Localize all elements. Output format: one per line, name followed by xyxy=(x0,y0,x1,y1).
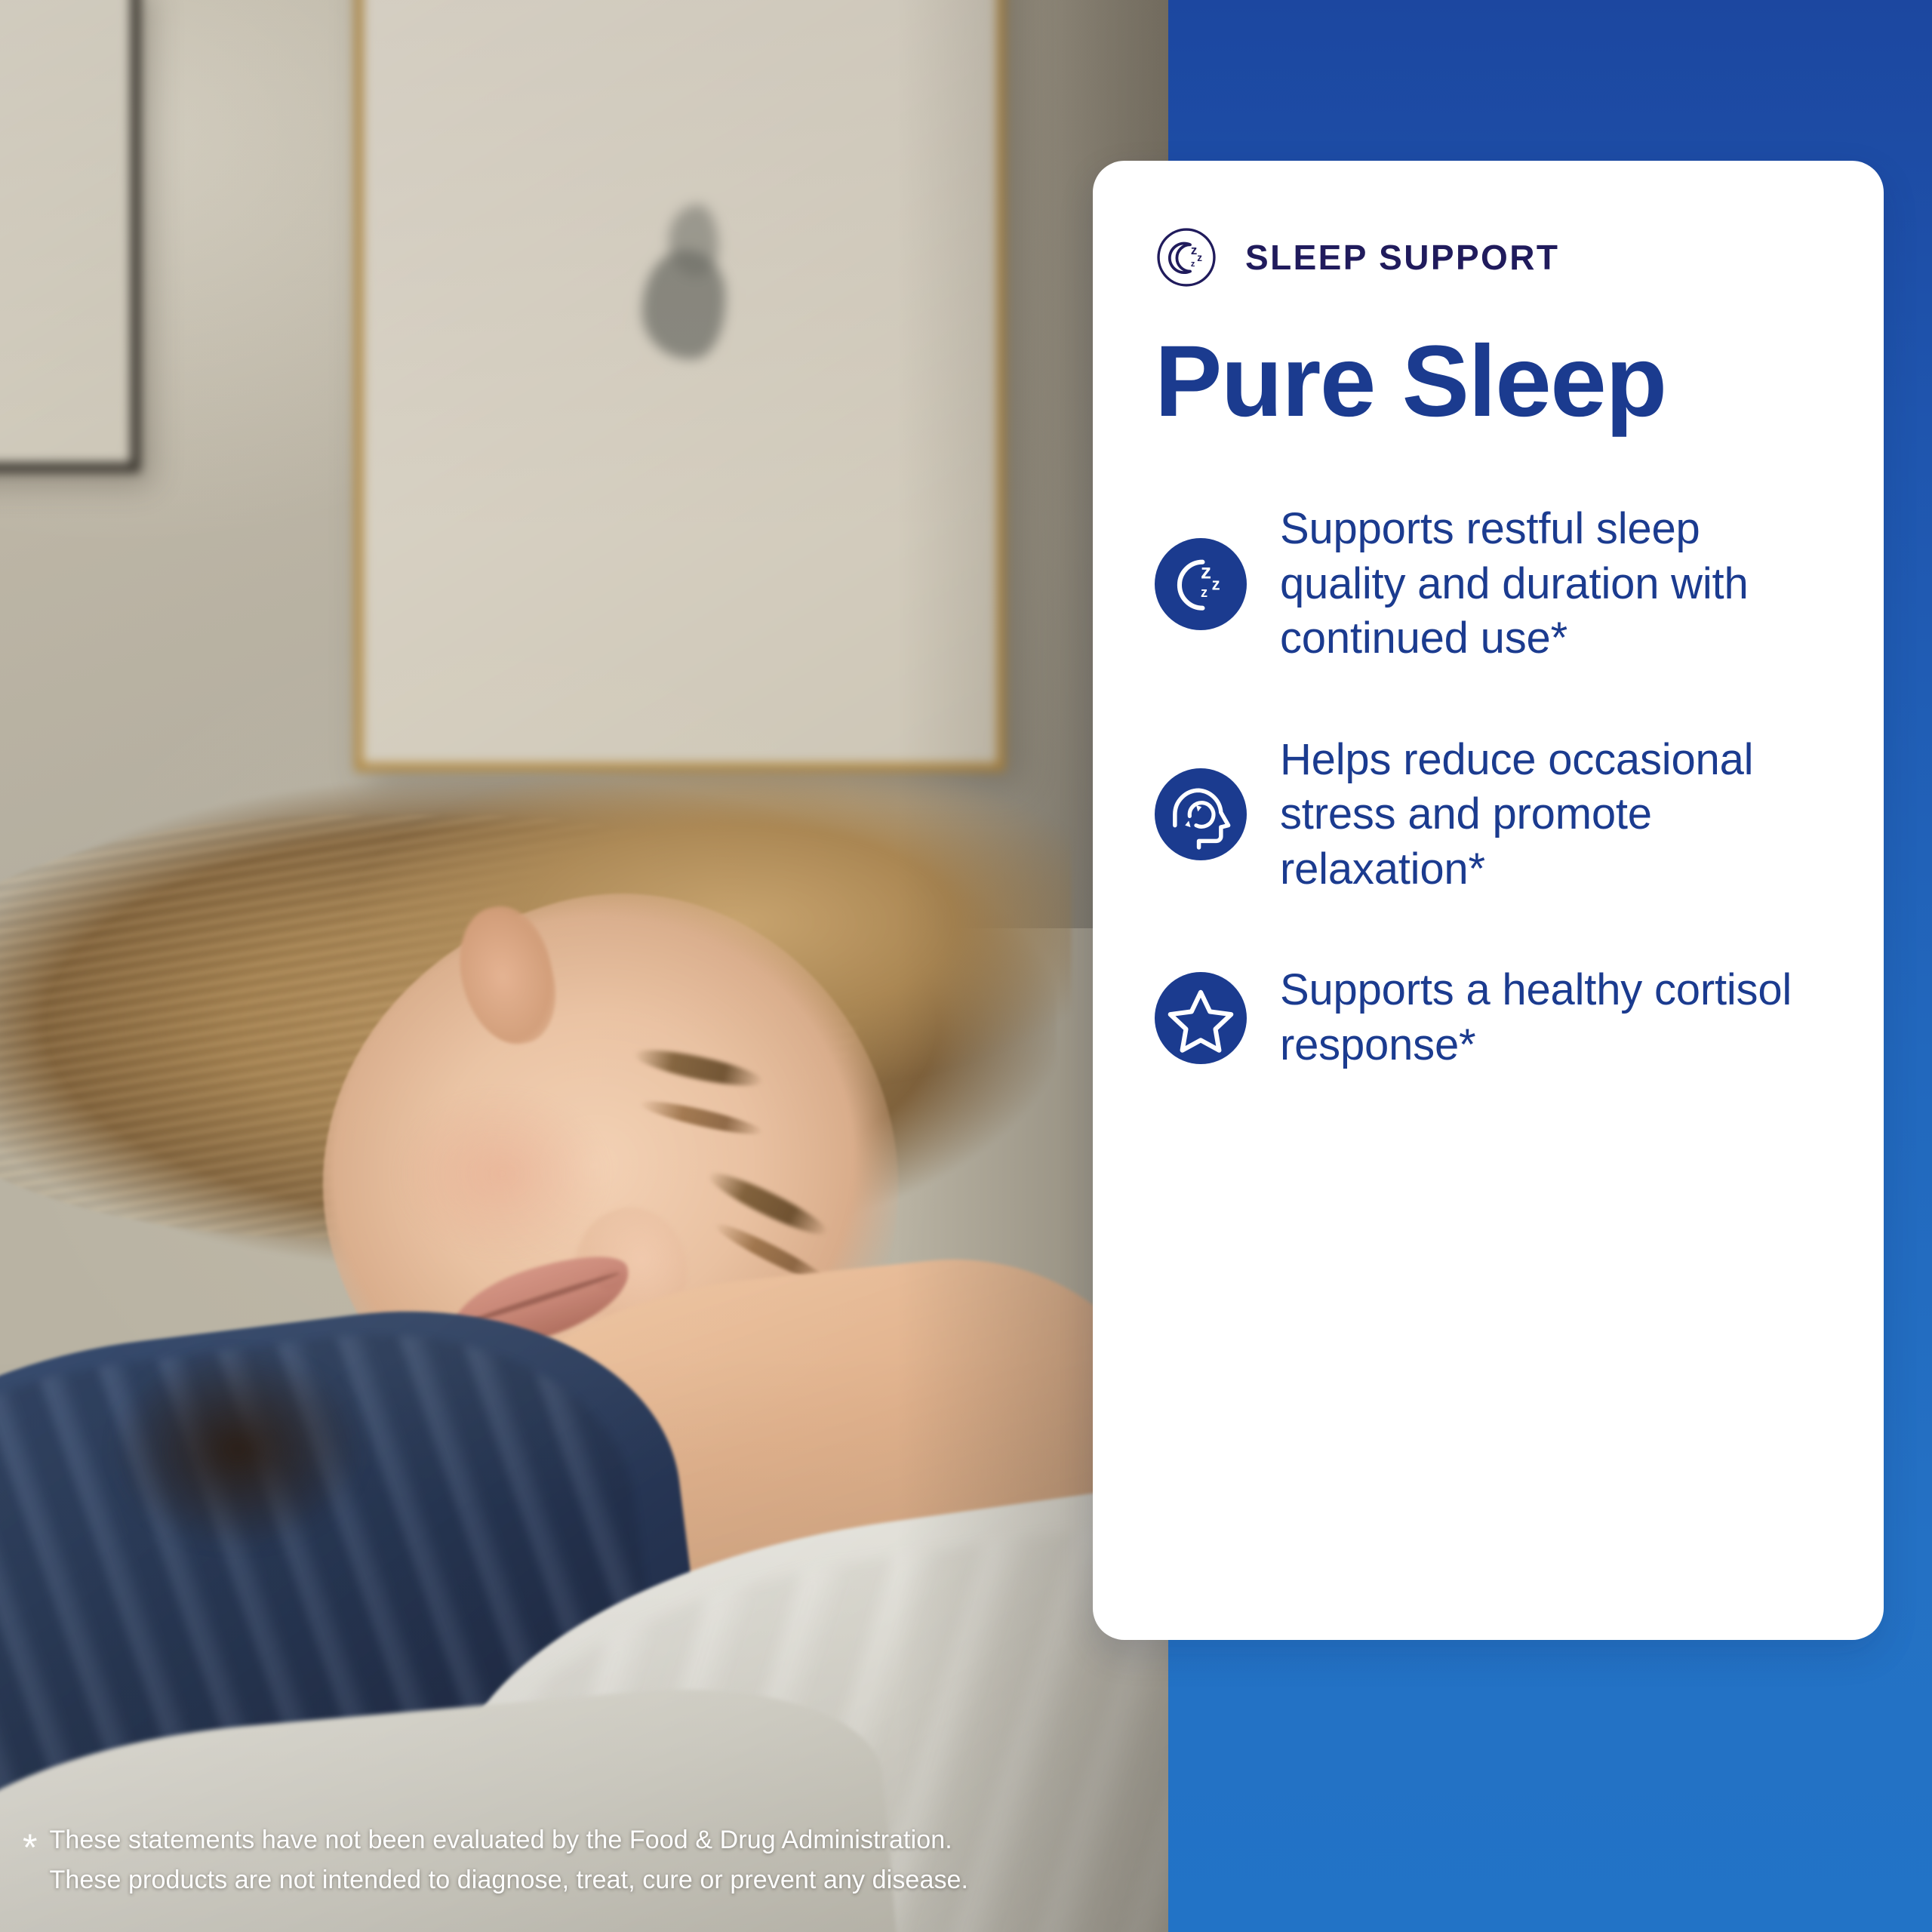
svg-text:z: z xyxy=(1201,559,1211,583)
frame-artwork-mark-secondary xyxy=(669,205,718,277)
product-card: z z z SLEEP SUPPORT Pure Sleep z z z Sup… xyxy=(1093,161,1884,1640)
svg-text:z: z xyxy=(1191,243,1197,257)
promo-graphic: * These statements have not been evaluat… xyxy=(0,0,1932,1932)
picture-frame-center xyxy=(355,0,1005,771)
category-badge: z z z SLEEP SUPPORT xyxy=(1155,226,1828,289)
picture-frame-left xyxy=(0,0,140,472)
star-icon xyxy=(1155,972,1247,1064)
benefit-list: z z z Supports restful sleep quality and… xyxy=(1155,502,1828,1072)
cheek-blush xyxy=(392,1087,611,1260)
benefit-item: z z z Supports restful sleep quality and… xyxy=(1155,502,1828,666)
sleepwear-shadow xyxy=(113,1351,362,1547)
moon-zzz-icon: z z z xyxy=(1155,538,1247,630)
benefit-item: Helps reduce occasional stress and promo… xyxy=(1155,733,1828,897)
benefit-text: Helps reduce occasional stress and promo… xyxy=(1280,733,1828,897)
category-badge-label: SLEEP SUPPORT xyxy=(1245,237,1559,278)
disclaimer-line-2: These products are not intended to diagn… xyxy=(49,1864,968,1897)
asterisk-marker: * xyxy=(23,1829,37,1866)
head-refresh-icon xyxy=(1155,768,1247,860)
page-title: Pure Sleep xyxy=(1155,331,1828,432)
benefit-text: Supports a healthy cortisol response* xyxy=(1280,963,1828,1072)
svg-text:z: z xyxy=(1191,260,1195,269)
svg-text:z: z xyxy=(1212,574,1220,593)
svg-text:z: z xyxy=(1197,252,1202,263)
moon-zzz-outline-icon: z z z xyxy=(1155,226,1218,289)
disclaimer-lines: These statements have not been evaluated… xyxy=(49,1824,968,1897)
benefit-item: Supports a healthy cortisol response* xyxy=(1155,963,1828,1072)
svg-text:z: z xyxy=(1201,584,1207,600)
disclaimer-line-1: These statements have not been evaluated… xyxy=(49,1824,968,1857)
disclaimer: * These statements have not been evaluat… xyxy=(23,1824,1140,1897)
benefit-text: Supports restful sleep quality and durat… xyxy=(1280,502,1828,666)
sleeping-woman-photo xyxy=(0,0,1168,1932)
